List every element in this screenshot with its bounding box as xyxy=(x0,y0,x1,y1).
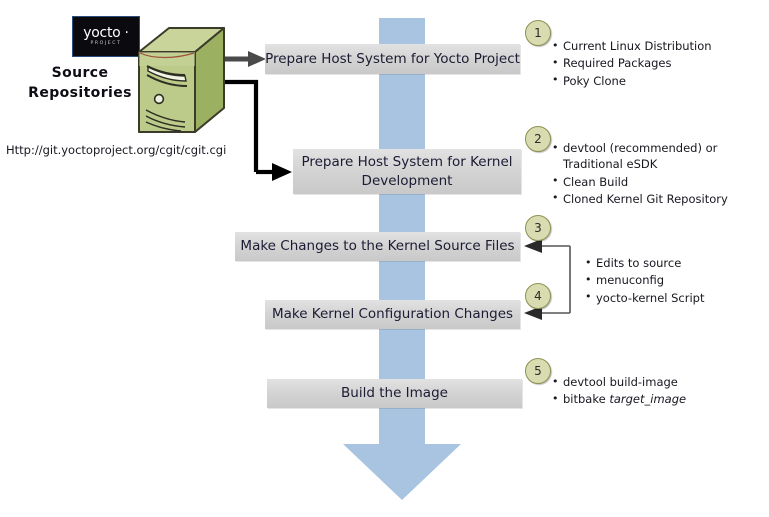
list-item-text: devtool build-image xyxy=(563,375,678,389)
bullet-list-step-2: devtool (recommended) or Traditional eSD… xyxy=(552,140,762,208)
source-repositories-url: Http://git.yoctoproject.org/cgit/cgit.cg… xyxy=(6,143,226,157)
step-number-2: 2 xyxy=(525,126,551,152)
yocto-logo-wordmark: yocto · xyxy=(83,26,128,40)
source-repositories-label: Source Repositories xyxy=(18,63,142,104)
list-item: Clean Build xyxy=(552,174,762,190)
bullet-list-step-1: Current Linux Distribution Required Pack… xyxy=(552,38,767,90)
main-flow-arrow-head xyxy=(343,444,461,500)
list-item: Current Linux Distribution xyxy=(552,38,767,54)
process-box-step-3[interactable]: Make Changes to the Kernel Source Files xyxy=(235,232,520,261)
diagram-canvas: yocto · PROJECT Source Repositories Http… xyxy=(0,0,769,517)
process-box-step-5[interactable]: Build the Image xyxy=(267,379,522,408)
process-box-step-1[interactable]: Prepare Host System for Yocto Project xyxy=(265,44,520,74)
connector-server-to-step2 xyxy=(222,82,292,181)
list-item: yocto-kernel Script xyxy=(585,290,765,306)
step-number-1: 1 xyxy=(525,20,551,46)
list-item: Cloned Kernel Git Repository xyxy=(552,191,762,207)
list-item-emphasis: target_image xyxy=(609,392,686,406)
list-item: Poky Clone xyxy=(552,73,767,89)
list-item: menuconfig xyxy=(585,272,765,288)
list-item: devtool (recommended) or Traditional eSD… xyxy=(552,140,762,173)
step-number-3: 3 xyxy=(525,215,551,241)
list-item: devtool build-image xyxy=(552,374,767,390)
list-item: bitbake target_image xyxy=(552,391,767,407)
yocto-project-logo: yocto · PROJECT xyxy=(72,16,140,57)
list-item: Edits to source xyxy=(585,255,765,271)
process-box-step-4[interactable]: Make Kernel Configuration Changes xyxy=(265,300,520,329)
process-box-step-2[interactable]: Prepare Host System for Kernel Developme… xyxy=(293,149,521,194)
connector-server-to-step1 xyxy=(222,51,266,67)
connector-bracket-steps-3-4 xyxy=(524,239,570,320)
list-item: Required Packages xyxy=(552,55,767,71)
bullet-list-step-5: devtool build-image bitbake target_image xyxy=(552,374,767,409)
list-item-text: bitbake xyxy=(563,392,609,406)
step-number-4: 4 xyxy=(525,283,551,309)
bullet-list-steps-3-4: Edits to source menuconfig yocto-kernel … xyxy=(585,255,765,307)
server-icon xyxy=(135,26,227,138)
step-number-5: 5 xyxy=(525,358,551,384)
yocto-logo-subtext: PROJECT xyxy=(90,42,121,47)
